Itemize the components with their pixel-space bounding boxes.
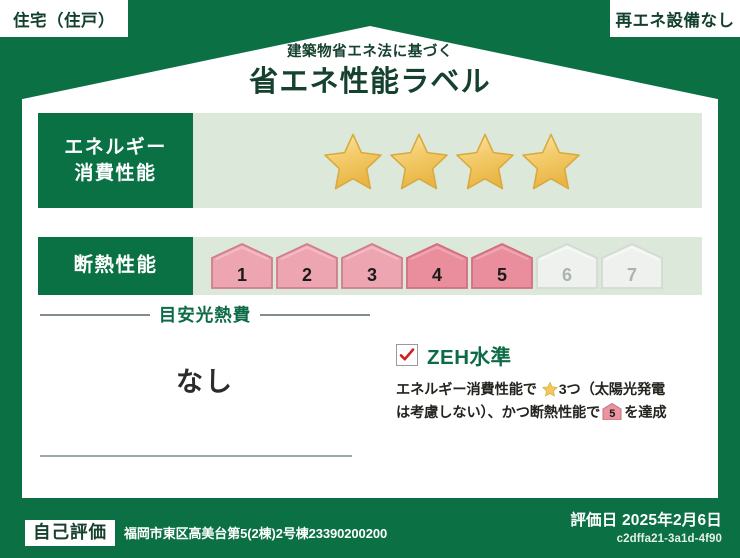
insulation-grade-chip: 4 [406, 245, 468, 289]
insulation-grade-chip: 1 [211, 253, 273, 289]
insulation-grade-scale: 1 2 3 4 5 6 7 [211, 243, 663, 289]
utility-cost-heading: 目安光熱費 [40, 302, 370, 327]
insulation-performance-row-label: 断熱性能 [38, 237, 193, 295]
insulation-grade-chip-number: 1 [211, 266, 273, 284]
energy-consumption-row-value [193, 113, 702, 208]
energy-consumption-row: エネルギー 消費性能 [38, 113, 702, 208]
evaluation-date: 評価日 2025年2月6日 [570, 508, 722, 530]
utility-cost-heading-label: 目安光熱費 [159, 302, 252, 327]
property-address: 福岡市東区高美台第5(2棟)2号棟23390200200 [124, 523, 387, 546]
energy-consumption-label-line2: 消費性能 [74, 161, 156, 186]
renewable-equipment-tag-label: 再エネ設備なし [616, 7, 735, 31]
insulation-grade-chip-number: 3 [341, 266, 403, 284]
insulation-performance-row-value: 1 2 3 4 5 6 7 [193, 237, 702, 295]
star-icon [454, 131, 516, 191]
footer-left: 自己評価 福岡市東区高美台第5(2棟)2号棟23390200200 [25, 520, 387, 547]
insulation-grade-chip: 5 [471, 245, 533, 289]
check-icon [398, 346, 416, 364]
building-type-tag-label: 住宅（住戸） [13, 7, 115, 31]
insulation-grade-chip-number: 4 [406, 266, 468, 284]
self-evaluation-tag: 自己評価 [25, 520, 115, 547]
star-icon [520, 131, 582, 191]
insulation-grade-chip: 6 [536, 249, 598, 289]
title-block: 建築物省エネ法に基づく 省エネ性能ラベル [22, 44, 718, 100]
insulation-grade-chip-number: 5 [471, 266, 533, 284]
zeh-standard-description: エネルギー消費性能で 3つ（太陽光発電 は考慮しない）、かつ断熱性能で 5 を達… [396, 379, 708, 425]
zeh-desc-part2: 3つ（太陽光発電 [559, 382, 665, 398]
insulation-grade-chip: 2 [276, 253, 338, 289]
insulation-grade-chip-number: 6 [536, 266, 598, 284]
page-title: 省エネ性能ラベル [22, 66, 718, 99]
insulation-grade-chip: 3 [341, 253, 403, 289]
insulation-grade-chip: 7 [601, 249, 663, 289]
zeh-standard-title: ZEH水準 [427, 340, 512, 370]
star-icon [322, 131, 384, 191]
utility-cost-underline [40, 455, 352, 457]
document-id: c2dffa21-3a1d-4f90 [570, 533, 722, 545]
star-icon [542, 381, 558, 397]
building-type-tag: 住宅（住戸） [0, 0, 128, 37]
insulation-performance-label: 断熱性能 [73, 253, 157, 279]
heading-rule-left [40, 314, 150, 316]
utility-cost-value: なし [40, 360, 370, 399]
insulation-grade-chip-number: 2 [276, 266, 338, 284]
insulation-performance-row: 断熱性能 1 2 3 4 5 [38, 237, 702, 295]
energy-performance-label: 住宅（住戸） 再エネ設備なし 建築物省エネ法に基づく 省エネ性能ラベル エネルギ… [0, 0, 740, 558]
zeh-desc-part4: を達成 [624, 405, 666, 421]
zeh-standard-heading: ZEH水準 [396, 340, 708, 370]
insulation-grade-inline-badge-number: 5 [602, 409, 622, 420]
star-rating [322, 131, 582, 191]
zeh-desc-part3: は考慮しない）、かつ断熱性能で [396, 405, 600, 421]
insulation-grade-inline-badge: 5 [602, 403, 622, 420]
energy-consumption-label-line1: エネルギー [64, 135, 167, 160]
zeh-checkbox[interactable] [396, 344, 418, 366]
renewable-equipment-tag: 再エネ設備なし [610, 0, 740, 37]
footer-right: 評価日 2025年2月6日 c2dffa21-3a1d-4f90 [570, 508, 722, 545]
zeh-standard-block: ZEH水準 エネルギー消費性能で 3つ（太陽光発電 は考慮しない）、かつ断熱性能… [396, 340, 708, 425]
title-subtitle: 建築物省エネ法に基づく [22, 44, 718, 61]
heading-rule-right [260, 314, 370, 316]
star-icon [388, 131, 450, 191]
energy-consumption-row-label: エネルギー 消費性能 [38, 113, 193, 208]
zeh-desc-part1: エネルギー消費性能で [396, 382, 537, 398]
insulation-grade-chip-number: 7 [601, 266, 663, 284]
